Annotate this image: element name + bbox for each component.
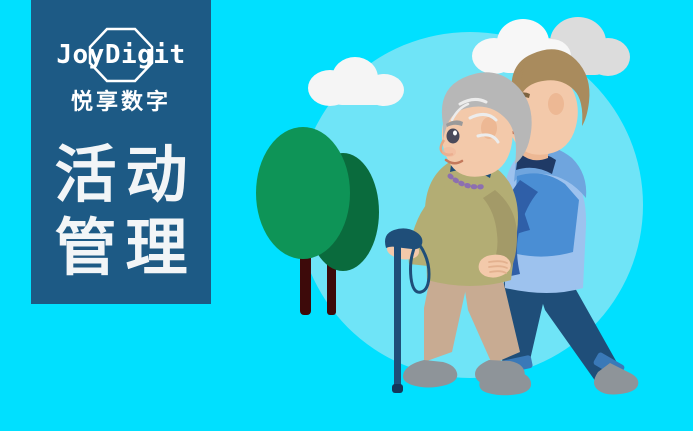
- brand-wordmark: JoyDigit: [56, 42, 185, 68]
- woman-back-shoe: [475, 360, 525, 386]
- man-ear: [548, 93, 564, 115]
- brand-logo: JoyDigit: [51, 27, 191, 83]
- page-title-line-1: 活动: [45, 142, 196, 207]
- brand-subtitle: 悦享数字: [71, 92, 171, 114]
- woman-cheek: [442, 147, 456, 157]
- page-title: 活动 管理: [45, 142, 196, 280]
- poster-canvas: JoyDigit 悦享数字 活动 管理: [0, 0, 693, 431]
- cane-tip: [392, 384, 403, 393]
- cane-shaft: [394, 244, 401, 390]
- woman-eye: [447, 129, 460, 144]
- page-title-line-2: 管理: [45, 215, 196, 280]
- woman-eye-highlight: [453, 131, 457, 136]
- title-panel: JoyDigit 悦享数字 活动 管理: [31, 0, 211, 304]
